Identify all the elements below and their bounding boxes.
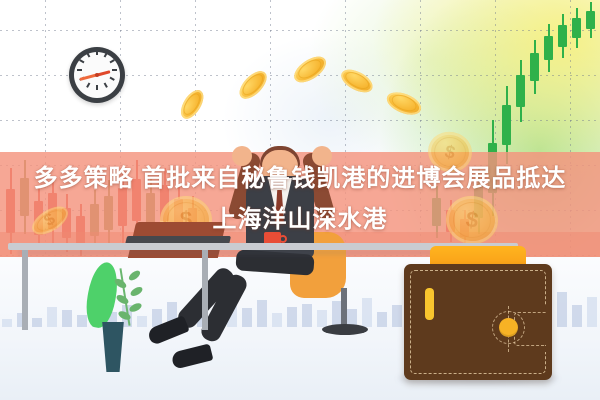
headline-line-1: 多多策略 首批来自秘鲁钱凯港的进博会展品抵达 (0, 158, 600, 199)
headline-overlay: 多多策略 首批来自秘鲁钱凯港的进博会展品抵达 上海洋山深水港 (0, 158, 600, 240)
bar-chart-bar (77, 315, 87, 327)
bar-chart-bar (557, 292, 567, 327)
bar-chart-bar (572, 305, 582, 327)
candlestick (586, 2, 595, 38)
candle-body (572, 18, 581, 39)
chair-base (322, 324, 368, 335)
promo-banner-image: $$$$$ (0, 0, 600, 400)
candle-body (544, 36, 553, 61)
candle-body (516, 75, 525, 107)
bar-chart-bar (302, 304, 312, 327)
desk-leg-mid (202, 250, 208, 330)
clock-tick (112, 69, 117, 71)
candlestick (572, 8, 581, 48)
bar-chart-bar (272, 313, 282, 327)
bar-chart-bar (62, 310, 72, 327)
clock-center-pin (95, 73, 99, 77)
bar-chart-bar (287, 307, 297, 327)
bar-chart-bar (257, 300, 267, 327)
candlestick (530, 40, 539, 94)
bar-chart-bar (392, 305, 402, 327)
clock-tick (96, 50, 98, 55)
candle-body (558, 25, 567, 48)
candle-body (502, 105, 511, 146)
clock-tick (77, 69, 82, 71)
bar-chart-bar (137, 316, 147, 327)
candlestick (516, 60, 525, 122)
bar-chart-bar (32, 318, 42, 327)
candlestick (544, 24, 553, 72)
bar-chart-bar (47, 307, 57, 327)
leather-wallet (404, 264, 552, 380)
candle-body (530, 53, 539, 81)
bar-chart-bar (2, 319, 12, 327)
bar-chart-bar (362, 298, 372, 327)
wallet-clasp-button (499, 318, 518, 337)
candlestick (558, 14, 567, 58)
bar-chart-bar (587, 297, 597, 327)
bar-chart-bar (317, 310, 327, 327)
candle-body (586, 11, 595, 30)
wall-clock (69, 47, 125, 103)
wallet-card-edge (425, 288, 434, 320)
bar-chart-bar (242, 308, 252, 327)
chair-post (341, 288, 347, 328)
bar-chart-bar (377, 312, 387, 327)
desk-leg-left (22, 250, 28, 330)
clock-tick (96, 85, 98, 90)
headline-line-2: 上海洋山深水港 (0, 199, 600, 240)
